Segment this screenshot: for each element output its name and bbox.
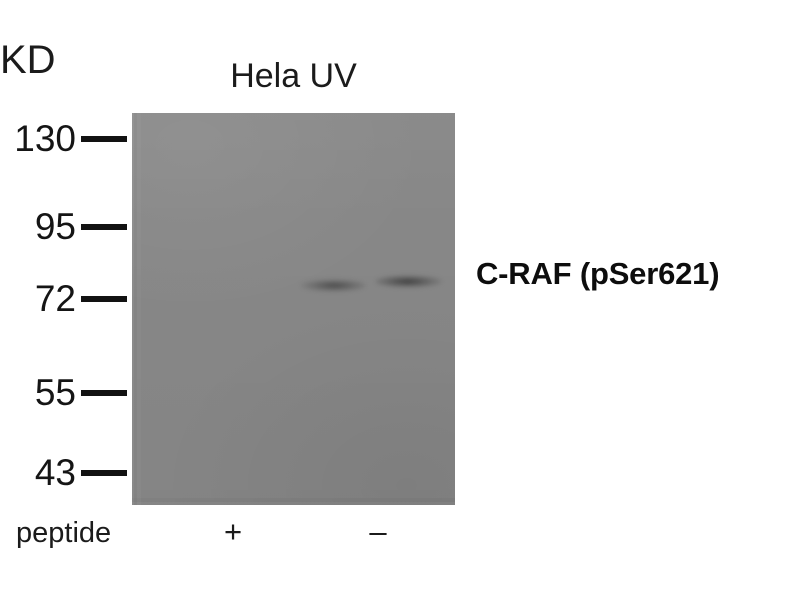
condition-lane-plus: +	[198, 514, 268, 550]
target-protein-label: C-RAF (pSer621)	[476, 256, 719, 292]
protein-band-lane-plus	[300, 279, 366, 292]
condition-row-label: peptide	[16, 516, 111, 550]
mw-marker-43: 43	[0, 453, 132, 493]
membrane-texture	[132, 113, 455, 505]
kd-axis-title: KD	[0, 40, 56, 80]
mw-marker-95-value: 95	[35, 207, 76, 247]
mw-marker-55-dash-icon	[81, 390, 127, 396]
western-blot-figure: KD 130 95 72 55 43 Hela UV	[0, 0, 800, 600]
mw-marker-55: 55	[0, 373, 132, 413]
membrane-shading	[132, 113, 455, 505]
mw-marker-95-dash-icon	[81, 224, 127, 230]
mw-marker-55-value: 55	[35, 373, 76, 413]
mw-marker-43-dash-icon	[81, 470, 127, 476]
mw-marker-72-dash-icon	[81, 296, 127, 302]
mw-marker-95: 95	[0, 207, 132, 247]
mw-marker-130-value: 130	[14, 119, 76, 159]
protein-band-lane-minus	[375, 275, 443, 288]
mw-marker-72-value: 72	[35, 279, 76, 319]
condition-lane-minus: –	[343, 514, 413, 550]
mw-marker-43-value: 43	[35, 453, 76, 493]
lane-header-title: Hela UV	[132, 57, 455, 95]
blot-membrane-panel	[132, 113, 455, 505]
mw-marker-130-dash-icon	[81, 136, 127, 142]
mw-marker-72: 72	[0, 279, 132, 319]
mw-marker-130: 130	[0, 119, 132, 159]
